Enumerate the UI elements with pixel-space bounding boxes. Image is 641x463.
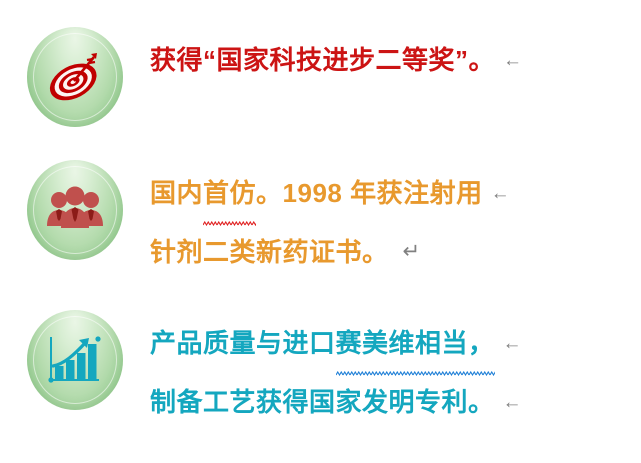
text-cell-2: 国内首仿。1998 年获注射用← 针剂二类新药证书。↵ <box>150 158 641 281</box>
bullet-text-segment: 针剂二类新药证书。 <box>150 237 389 267</box>
bullet-text-segment: 获得“国家科技进步二等奖”。 <box>150 45 495 75</box>
icon-bubble-3 <box>27 310 123 410</box>
soft-return-mark: ← <box>495 392 523 413</box>
target-dartboard-icon <box>44 47 106 107</box>
paragraph-return-mark: ↵ <box>389 240 421 263</box>
grammar-flagged-text: 赛美维相当， <box>336 314 495 372</box>
soft-return-mark: ← <box>495 50 523 71</box>
soft-return-mark: ← <box>495 333 523 354</box>
slide-canvas: 获得“国家科技进步二等奖”。← <box>0 0 641 463</box>
icon-cell-2 <box>0 158 150 260</box>
bullet-line: 产品质量与进口赛美维相当，← <box>150 314 637 373</box>
text-cell-3: 产品质量与进口赛美维相当，← 制备工艺获得国家发明专利。← <box>150 308 641 432</box>
text-cell-1: 获得“国家科技进步二等奖”。← <box>150 25 641 90</box>
bullet-text-segment: 国内 <box>150 178 203 208</box>
bullet-line: 针剂二类新药证书。↵ <box>150 223 637 281</box>
bullet-text-segment: 产品质量与进口 <box>150 328 336 358</box>
bullet-row-achievement: 获得“国家科技进步二等奖”。← <box>0 25 641 145</box>
bullet-line: 制备工艺获得国家发明专利。← <box>150 373 637 432</box>
icon-bubble-1 <box>27 27 123 127</box>
icon-cell-1 <box>0 25 150 127</box>
icon-bubble-2 <box>27 160 123 260</box>
bullet-text-segment: 。1998 年获注射用 <box>256 178 483 208</box>
bullet-row-quality: 产品质量与进口赛美维相当，← 制备工艺获得国家发明专利。← <box>0 308 641 448</box>
bullet-line: 国内首仿。1998 年获注射用← <box>150 164 637 223</box>
spellcheck-misspelled-text: 首仿 <box>203 164 256 222</box>
growth-bar-chart-icon <box>46 333 104 387</box>
people-group-icon <box>44 186 106 234</box>
soft-return-mark: ← <box>483 183 511 204</box>
icon-cell-3 <box>0 308 150 410</box>
bullet-line: 获得“国家科技进步二等奖”。← <box>150 31 637 90</box>
bullet-row-first-generic: 国内首仿。1998 年获注射用← 针剂二类新药证书。↵ <box>0 158 641 283</box>
bullet-text-segment: 制备工艺获得国家发明专利。 <box>150 387 495 417</box>
